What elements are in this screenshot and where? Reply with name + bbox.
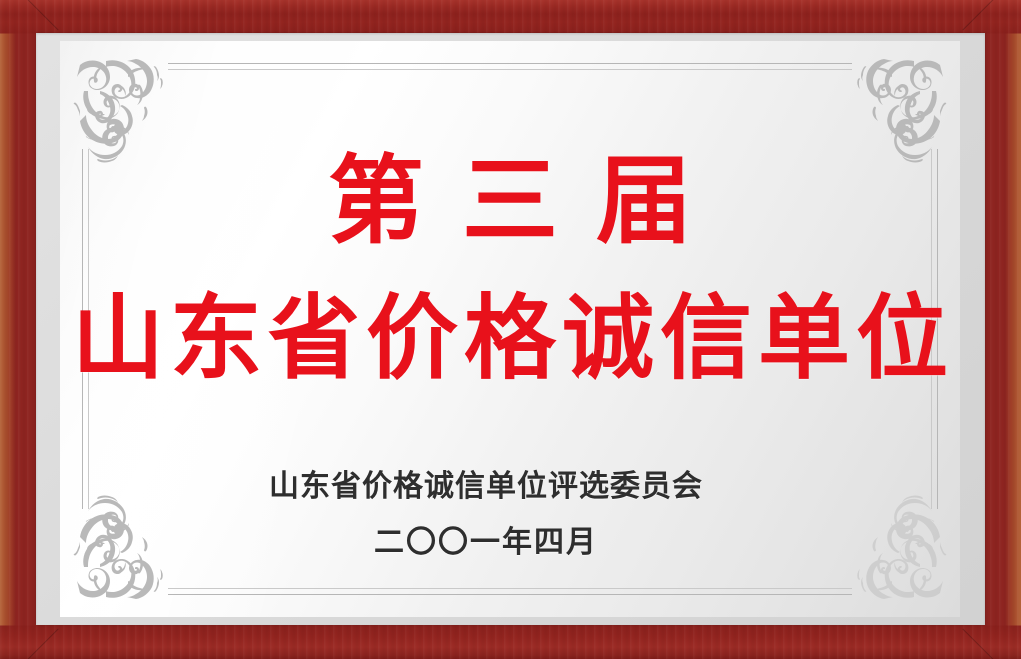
award-title-line-1: 第三届: [60, 149, 960, 253]
award-title-line-2: 山东省价格诚信单位: [60, 289, 960, 388]
plaque-panel: 第三届 山东省价格诚信单位 山东省价格诚信单位评选委员会 二〇〇一年四月: [60, 41, 960, 617]
award-plaque: 第三届 山东省价格诚信单位 山东省价格诚信单位评选委员会 二〇〇一年四月: [0, 0, 1021, 659]
plaque-content: 第三届 山东省价格诚信单位 山东省价格诚信单位评选委员会 二〇〇一年四月: [60, 41, 960, 617]
signature-block: 山东省价格诚信单位评选委员会 二〇〇一年四月: [60, 461, 960, 561]
issue-date: 二〇〇一年四月: [60, 517, 960, 561]
issuing-organization: 山东省价格诚信单位评选委员会: [60, 461, 960, 505]
